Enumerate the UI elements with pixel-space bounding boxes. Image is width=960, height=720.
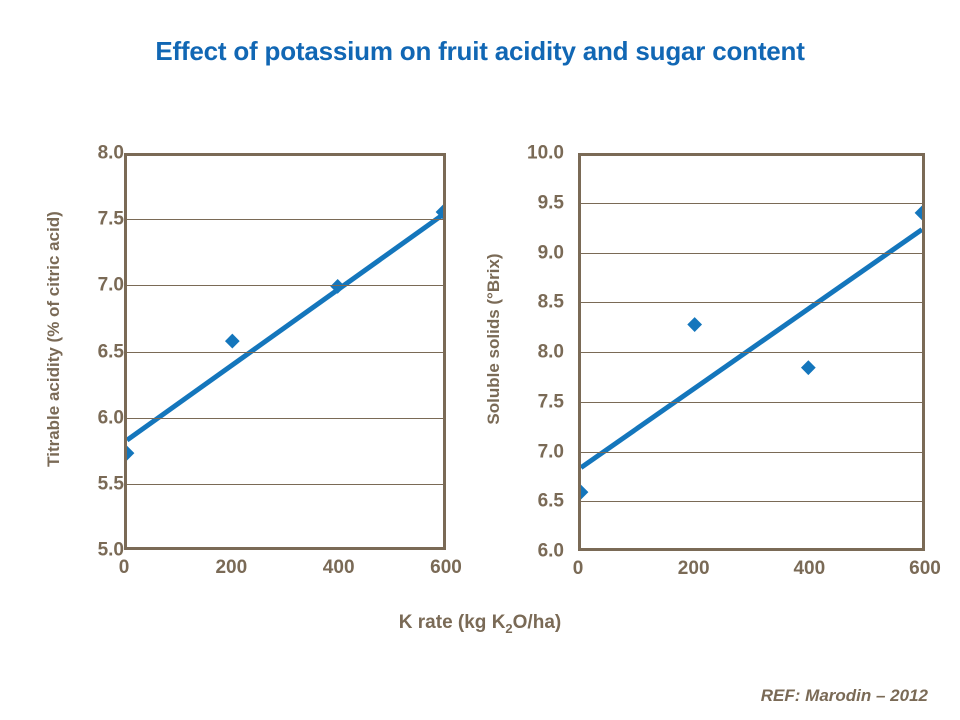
y-tick-label: 8.0	[538, 343, 564, 362]
data-point-marker	[687, 317, 702, 332]
x-axis-title: K rate (kg K2O/ha)	[0, 612, 960, 636]
x-axis-title-subscript: 2	[505, 621, 512, 636]
x-tick-label: 0	[119, 558, 130, 577]
y-axis-title-right: Soluble solids (°Brix)	[484, 134, 508, 544]
plot-area-left	[124, 153, 446, 550]
reference-citation: REF: Marodin – 2012	[761, 686, 928, 706]
y-tick-label: 9.0	[538, 243, 564, 262]
gridline	[127, 418, 443, 419]
gridline	[581, 402, 922, 403]
gridline	[127, 285, 443, 286]
gridline	[581, 352, 922, 353]
y-tick-label: 7.5	[538, 392, 564, 411]
gridline	[127, 484, 443, 485]
trendline	[581, 230, 922, 468]
x-tick-label: 200	[678, 559, 710, 578]
x-axis-title-suffix: O/ha)	[513, 612, 562, 633]
x-axis-ticks-left: 0200400600	[124, 558, 446, 584]
y-tick-label: 9.5	[538, 193, 564, 212]
data-point-marker	[915, 205, 922, 220]
data-point-marker	[801, 360, 816, 375]
y-axis-title-left: Titrable acidity (% of citric acid)	[44, 134, 68, 544]
gridline	[127, 219, 443, 220]
y-tick-label: 6.0	[538, 542, 564, 561]
x-axis-ticks-right: 0200400600	[578, 559, 925, 585]
y-tick-label: 7.5	[98, 210, 124, 229]
y-tick-label: 6.5	[538, 492, 564, 511]
trendline	[127, 215, 443, 440]
gridline	[581, 452, 922, 453]
x-tick-label: 200	[215, 558, 247, 577]
gridline	[581, 501, 922, 502]
gridline	[581, 302, 922, 303]
y-tick-label: 6.5	[98, 342, 124, 361]
y-tick-label: 5.5	[98, 474, 124, 493]
gridline	[581, 253, 922, 254]
y-tick-label: 6.0	[98, 408, 124, 427]
y-tick-label: 8.5	[538, 293, 564, 312]
data-point-marker	[225, 334, 240, 349]
data-point-marker	[127, 446, 134, 461]
gridline	[581, 203, 922, 204]
y-tick-label: 7.0	[98, 276, 124, 295]
x-tick-label: 600	[430, 558, 462, 577]
x-tick-label: 400	[323, 558, 355, 577]
data-point-marker	[581, 485, 588, 500]
x-tick-label: 0	[573, 559, 584, 578]
x-tick-label: 600	[909, 559, 941, 578]
y-tick-label: 8.0	[98, 144, 124, 163]
x-tick-label: 400	[793, 559, 825, 578]
x-axis-title-prefix: K rate (kg K	[399, 612, 506, 633]
page-title: Effect of potassium on fruit acidity and…	[0, 36, 960, 67]
plot-area-right	[578, 153, 925, 551]
gridline	[127, 352, 443, 353]
y-tick-label: 10.0	[527, 144, 564, 163]
y-tick-label: 7.0	[538, 442, 564, 461]
